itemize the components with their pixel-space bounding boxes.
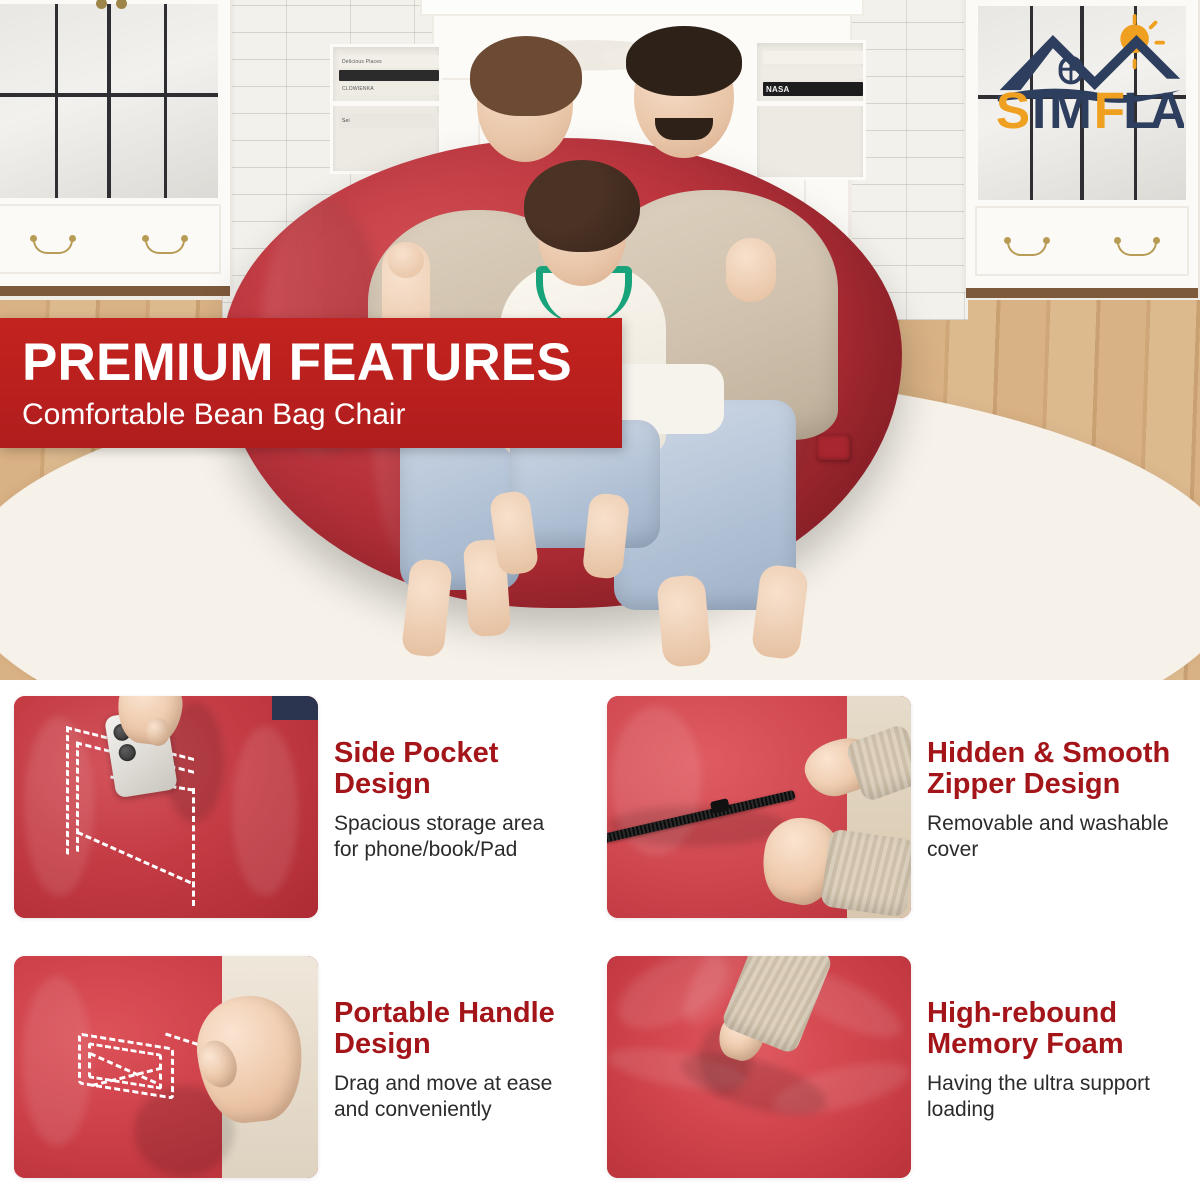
drawer-pull[interactable] bbox=[1007, 242, 1047, 256]
man-foot bbox=[656, 574, 712, 668]
cabinet-drawer-left[interactable] bbox=[0, 204, 221, 274]
page-subtitle: Comfortable Bean Bag Chair bbox=[22, 400, 622, 430]
feature-text-portable-handle: Portable Handle Design Drag and move at … bbox=[334, 956, 555, 1124]
svg-text:I: I bbox=[1032, 82, 1046, 132]
feature-card-side-pocket: Side Pocket Design Spacious storage area… bbox=[14, 696, 593, 940]
mantel-top-ledge bbox=[420, 0, 864, 16]
features-grid: Side Pocket Design Spacious storage area… bbox=[0, 680, 1200, 1200]
child-hair bbox=[524, 160, 640, 252]
bookshelf-niche-left: Delicious Places CLOWIENKA Sei bbox=[330, 44, 442, 174]
mullion bbox=[164, 4, 167, 198]
phone-camera-lens bbox=[118, 743, 137, 762]
book-spine: NASA bbox=[763, 82, 863, 96]
woman-hand bbox=[388, 244, 424, 278]
shelf-divider bbox=[333, 101, 439, 106]
feature-text-memory-foam: High-rebound Memory Foam Having the ultr… bbox=[927, 956, 1150, 1124]
display-cabinet-left bbox=[0, 0, 232, 290]
fabric-crease bbox=[232, 726, 298, 896]
man-hand bbox=[726, 238, 776, 302]
page-title: PREMIUM FEATURES bbox=[22, 336, 622, 389]
drawer-pull[interactable] bbox=[1117, 242, 1157, 256]
cabinet-drawer-right[interactable] bbox=[975, 206, 1189, 276]
svg-text:A: A bbox=[1150, 82, 1184, 132]
svg-text:M: M bbox=[1049, 82, 1092, 132]
svg-text:S: S bbox=[996, 82, 1030, 132]
bookshelf-niche-right: NASA bbox=[754, 40, 866, 180]
shelf-divider bbox=[757, 101, 863, 106]
feature-card-portable-handle: Portable Handle Design Drag and move at … bbox=[14, 956, 593, 1200]
hero-banner: PREMIUM FEATURES Comfortable Bean Bag Ch… bbox=[0, 318, 622, 448]
feature-text-hidden-zipper: Hidden & Smooth Zipper Design Removable … bbox=[927, 696, 1170, 864]
pocket-stitch-right bbox=[192, 788, 195, 906]
feature-body: Spacious storage area for phone/book/Pad bbox=[334, 811, 544, 864]
woman-hair bbox=[470, 36, 582, 116]
feature-title: Hidden & Smooth Zipper Design bbox=[927, 738, 1170, 801]
feature-body: Having the ultra support loading bbox=[927, 1071, 1150, 1124]
cabinet-base bbox=[966, 288, 1198, 298]
hero-section: Delicious Places CLOWIENKA Sei NASA bbox=[0, 0, 1200, 680]
background-dark-edge bbox=[272, 696, 318, 720]
feature-image-memory-foam bbox=[607, 956, 911, 1178]
book-spine: Delicious Places bbox=[339, 55, 439, 68]
feature-card-hidden-zipper: Hidden & Smooth Zipper Design Removable … bbox=[607, 696, 1186, 940]
book-spine: CLOWIENKA bbox=[339, 83, 439, 95]
feature-image-side-pocket bbox=[14, 696, 318, 918]
man-beard bbox=[655, 118, 713, 140]
cabinet-glass-left bbox=[0, 1, 221, 201]
drawer-pull[interactable] bbox=[145, 240, 185, 254]
side-handle-tab[interactable] bbox=[816, 434, 850, 460]
book-spine bbox=[763, 67, 863, 79]
thumb bbox=[146, 718, 170, 746]
book-spine bbox=[339, 70, 439, 81]
feature-image-portable-handle bbox=[14, 956, 318, 1178]
feature-title: Side Pocket Design bbox=[334, 738, 544, 801]
man-hair bbox=[626, 26, 742, 96]
book-spine bbox=[763, 51, 863, 64]
brand-logo[interactable]: S I M F L A G bbox=[994, 14, 1184, 132]
feature-title: High-rebound Memory Foam bbox=[927, 998, 1150, 1061]
feature-body: Drag and move at ease and conveniently bbox=[334, 1071, 555, 1124]
drawer-pull[interactable] bbox=[33, 240, 73, 254]
mullion bbox=[55, 4, 58, 198]
feature-card-memory-foam: High-rebound Memory Foam Having the ultr… bbox=[607, 956, 1186, 1200]
svg-text:F: F bbox=[1094, 82, 1125, 132]
feature-text-side-pocket: Side Pocket Design Spacious storage area… bbox=[334, 696, 544, 864]
feature-title: Portable Handle Design bbox=[334, 998, 555, 1061]
feature-body: Removable and washable cover bbox=[927, 811, 1170, 864]
feature-image-hidden-zipper bbox=[607, 696, 911, 918]
cabinet-base bbox=[0, 286, 230, 296]
book-spine: Sei bbox=[339, 113, 439, 128]
sweater-sleeve-lower bbox=[820, 828, 911, 917]
svg-text:G: G bbox=[1182, 82, 1184, 132]
brand-wordmark: S I M F L A G bbox=[996, 82, 1184, 132]
